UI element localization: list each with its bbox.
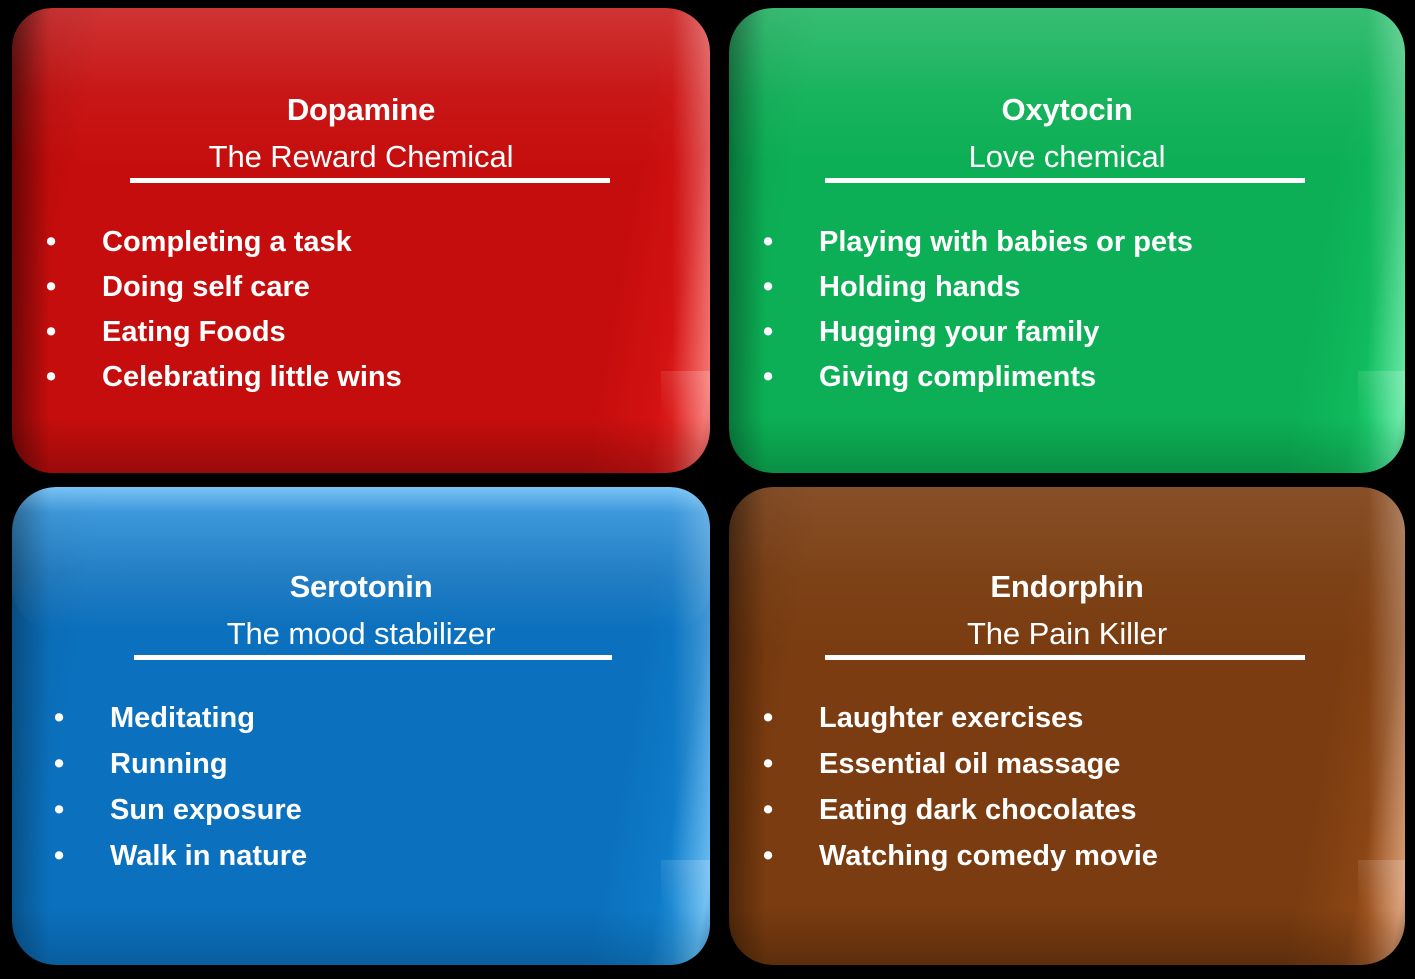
bullet-dot-icon: •: [763, 318, 819, 347]
list-item-label: Completing a task: [102, 228, 352, 257]
card-oxytocin[interactable]: Oxytocin Love chemical • Playing with ba…: [729, 8, 1405, 473]
list-item: • Running: [54, 750, 307, 779]
list-item-label: Giving compliments: [819, 363, 1096, 392]
bullet-dot-icon: •: [763, 842, 819, 871]
card-divider-endorphin: [825, 655, 1305, 660]
card-content-serotonin: Serotonin The mood stabilizer • Meditati…: [12, 487, 710, 965]
bullet-dot-icon: •: [46, 228, 102, 257]
bullet-dot-icon: •: [46, 273, 102, 302]
bullet-dot-icon: •: [54, 704, 110, 733]
list-item: • Completing a task: [46, 228, 402, 257]
list-item-label: Celebrating little wins: [102, 363, 402, 392]
bullet-list-oxytocin: • Playing with babies or pets • Holding …: [763, 228, 1193, 408]
card-subtitle-dopamine: The Reward Chemical: [12, 141, 710, 172]
card-endorphin[interactable]: Endorphin The Pain Killer • Laughter exe…: [729, 487, 1405, 965]
list-item-label: Hugging your family: [819, 318, 1099, 347]
list-item-label: Eating Foods: [102, 318, 286, 347]
bullet-dot-icon: •: [763, 273, 819, 302]
list-item: • Walk in nature: [54, 842, 307, 871]
list-item: • Celebrating little wins: [46, 363, 402, 392]
list-item: • Eating dark chocolates: [763, 796, 1158, 825]
list-item: • Giving compliments: [763, 363, 1193, 392]
card-content-dopamine: Dopamine The Reward Chemical • Completin…: [12, 8, 710, 473]
bullet-list-endorphin: • Laughter exercises • Essential oil mas…: [763, 704, 1158, 888]
list-item-label: Playing with babies or pets: [819, 228, 1193, 257]
bullet-list-dopamine: • Completing a task • Doing self care • …: [46, 228, 402, 408]
card-content-oxytocin: Oxytocin Love chemical • Playing with ba…: [729, 8, 1405, 473]
bullet-dot-icon: •: [54, 842, 110, 871]
list-item-label: Watching comedy movie: [819, 842, 1158, 871]
list-item: • Essential oil massage: [763, 750, 1158, 779]
list-item: • Holding hands: [763, 273, 1193, 302]
card-dopamine[interactable]: Dopamine The Reward Chemical • Completin…: [12, 8, 710, 473]
card-subtitle-endorphin: The Pain Killer: [729, 618, 1405, 649]
list-item-label: Essential oil massage: [819, 750, 1120, 779]
list-item: • Doing self care: [46, 273, 402, 302]
bullet-dot-icon: •: [763, 363, 819, 392]
bullet-dot-icon: •: [54, 796, 110, 825]
card-title-dopamine: Dopamine: [12, 94, 710, 125]
card-subtitle-serotonin: The mood stabilizer: [12, 618, 710, 649]
list-item-label: Meditating: [110, 704, 255, 733]
bullet-dot-icon: •: [54, 750, 110, 779]
card-title-serotonin: Serotonin: [12, 571, 710, 602]
bullet-dot-icon: •: [46, 318, 102, 347]
bullet-list-serotonin: • Meditating • Running • Sun exposure • …: [54, 704, 307, 888]
list-item-label: Sun exposure: [110, 796, 302, 825]
infographic-canvas: Dopamine The Reward Chemical • Completin…: [0, 0, 1415, 979]
list-item-label: Walk in nature: [110, 842, 307, 871]
list-item: • Hugging your family: [763, 318, 1193, 347]
card-title-oxytocin: Oxytocin: [729, 94, 1405, 125]
list-item: • Eating Foods: [46, 318, 402, 347]
card-title-endorphin: Endorphin: [729, 571, 1405, 602]
card-serotonin[interactable]: Serotonin The mood stabilizer • Meditati…: [12, 487, 710, 965]
card-divider-dopamine: [130, 178, 610, 183]
list-item-label: Holding hands: [819, 273, 1020, 302]
list-item: • Sun exposure: [54, 796, 307, 825]
bullet-dot-icon: •: [763, 704, 819, 733]
card-divider-serotonin: [134, 655, 612, 660]
list-item: • Laughter exercises: [763, 704, 1158, 733]
bullet-dot-icon: •: [763, 750, 819, 779]
list-item-label: Laughter exercises: [819, 704, 1083, 733]
bullet-dot-icon: •: [763, 796, 819, 825]
card-content-endorphin: Endorphin The Pain Killer • Laughter exe…: [729, 487, 1405, 965]
bullet-dot-icon: •: [46, 363, 102, 392]
card-subtitle-oxytocin: Love chemical: [729, 141, 1405, 172]
list-item-label: Doing self care: [102, 273, 310, 302]
bullet-dot-icon: •: [763, 228, 819, 257]
card-divider-oxytocin: [825, 178, 1305, 183]
list-item: • Watching comedy movie: [763, 842, 1158, 871]
list-item: • Playing with babies or pets: [763, 228, 1193, 257]
list-item: • Meditating: [54, 704, 307, 733]
list-item-label: Eating dark chocolates: [819, 796, 1137, 825]
list-item-label: Running: [110, 750, 228, 779]
